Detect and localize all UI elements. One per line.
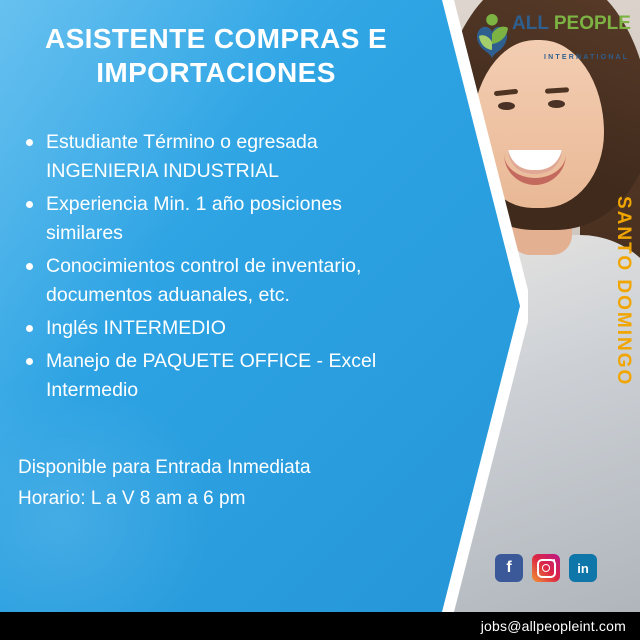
eye-left — [498, 102, 515, 110]
social-links: f in — [495, 554, 597, 582]
logo-wordmark: ALL PEOPLE — [512, 14, 631, 33]
requirements-list: Estudiante Término o egresada INGENIERIA… — [24, 128, 424, 409]
availability-block: Disponible para Entrada Inmediata Horari… — [18, 452, 418, 514]
schedule-text: Horario: L a V 8 am a 6 pm — [18, 483, 418, 514]
facebook-glyph: f — [506, 559, 511, 577]
poster-content: ASISTENTE COMPRAS E IMPORTACIONES Estudi… — [0, 0, 432, 612]
job-poster: ASISTENTE COMPRAS E IMPORTACIONES Estudi… — [0, 0, 640, 640]
list-item: Estudiante Término o egresada INGENIERIA… — [24, 128, 424, 186]
logo-word-people: PEOPLE — [554, 13, 631, 34]
person-leaf-logo-icon — [472, 12, 512, 64]
list-item: Conocimientos control de inventario, doc… — [24, 252, 424, 310]
city-label: SANTO DOMINGO — [612, 196, 634, 386]
eye-right — [548, 100, 565, 108]
company-logo: ALL PEOPLE INTERNATIONAL — [472, 10, 632, 72]
page-title: ASISTENTE COMPRAS E IMPORTACIONES — [16, 22, 416, 90]
list-item: Inglés INTERMEDIO — [24, 314, 424, 343]
facebook-icon[interactable]: f — [495, 554, 523, 582]
availability-text: Disponible para Entrada Inmediata — [18, 452, 418, 483]
instagram-icon[interactable] — [532, 554, 560, 582]
contact-bar: jobs@allpeopleint.com — [0, 612, 640, 640]
linkedin-glyph: in — [577, 561, 589, 576]
logo-word-all: ALL — [512, 13, 549, 34]
list-item: Manejo de PAQUETE OFFICE - Excel Interme… — [24, 347, 424, 405]
logo-subtitle: INTERNATIONAL — [544, 54, 629, 61]
list-item: Experiencia Min. 1 año posiciones simila… — [24, 190, 424, 248]
linkedin-icon[interactable]: in — [569, 554, 597, 582]
instagram-dot — [553, 559, 556, 562]
contact-email[interactable]: jobs@allpeopleint.com — [481, 618, 640, 634]
